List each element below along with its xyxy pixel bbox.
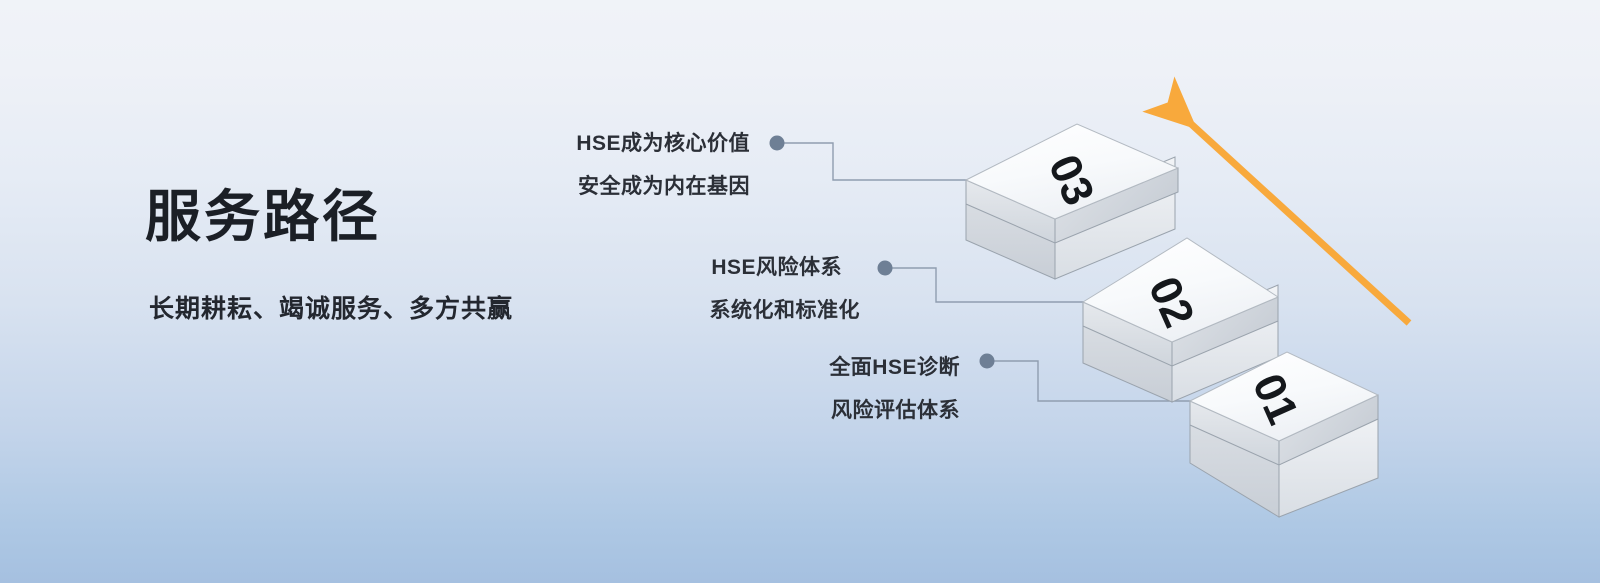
connector-dot-02 [878, 261, 893, 276]
connector-dot-03 [770, 136, 785, 151]
service-path-infographic: 服务路径 长期耕耘、竭诚服务、多方共赢 [0, 0, 1600, 583]
callout-02-line1: HSE风险体系 [711, 256, 842, 279]
callout-02-line2: 系统化和标准化 [470, 300, 860, 321]
step-block-03[interactable]: 03 [966, 124, 1178, 279]
callout-01-line1: 全面HSE诊断 [829, 356, 960, 379]
connector-line-03 [784, 143, 975, 180]
connector-step-03 [770, 136, 976, 181]
callout-03-line2: 安全成为内在基因 [360, 176, 750, 197]
callout-01-line2: 风险评估体系 [570, 400, 960, 421]
callout-step-02: HSE风险体系 系统化和标准化 [470, 257, 860, 321]
connector-dot-01 [980, 354, 995, 369]
callout-03-line1: HSE成为核心价值 [576, 132, 750, 155]
callout-step-03: HSE成为核心价值 安全成为内在基因 [360, 133, 750, 197]
callout-step-01: 全面HSE诊断 风险评估体系 [570, 357, 960, 421]
